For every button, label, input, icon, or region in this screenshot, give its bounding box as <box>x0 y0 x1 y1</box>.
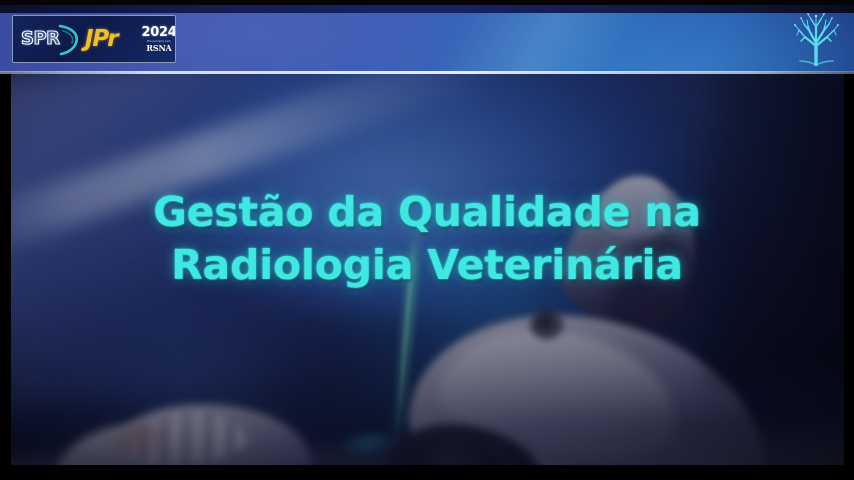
swoosh-icon <box>57 23 81 56</box>
jpr-logo: JPr <box>85 16 141 62</box>
rsna-logo-text: RSNA <box>146 44 171 52</box>
letterbox-bottom <box>0 465 854 480</box>
dog-eye <box>530 310 564 340</box>
jpr-year-block: 2024 Em parceria com RSNA <box>141 16 176 62</box>
jpr-year-text: 2024 <box>142 26 177 39</box>
spr-logo-text: SPR <box>21 28 60 49</box>
veterinary-dog-photo <box>10 74 844 465</box>
slide-header-banner: SPR JPr 2024 Em parceria com RSNA <box>0 0 854 74</box>
jpr-logo-text: JPr <box>85 26 117 52</box>
photo-dark-foreground-column <box>710 74 844 384</box>
tree-icon <box>790 10 842 66</box>
letterbox-left <box>0 74 11 480</box>
presentation-slide: SPR JPr 2024 Em parceria com RSNA <box>0 0 854 480</box>
slide-background-photo-stage <box>0 74 854 480</box>
spr-jpr-logo-lockup: SPR JPr 2024 Em parceria com RSNA <box>12 15 176 63</box>
spr-logo: SPR <box>13 16 85 62</box>
letterbox-right <box>844 74 854 480</box>
